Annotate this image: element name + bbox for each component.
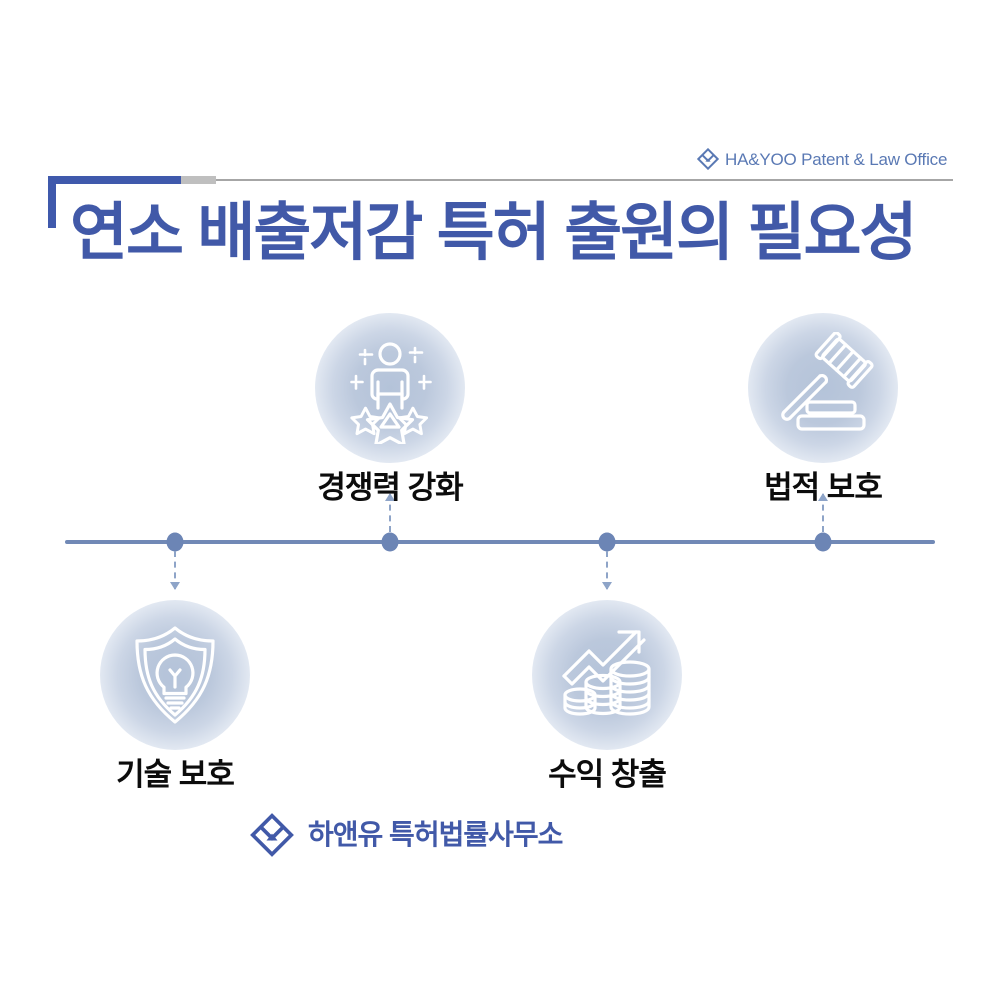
hayoo-diamond-logo-icon <box>249 812 295 858</box>
timeline-dot-technology-protection[interactable] <box>167 533 184 552</box>
person-on-stars-icon <box>334 332 446 444</box>
footer-logo: 하앤유 특허법률사무소 <box>249 812 562 858</box>
brand-header: HA&YOO Patent & Law Office <box>697 148 947 170</box>
gavel-icon <box>767 332 879 444</box>
shield-lightbulb-icon <box>119 619 231 731</box>
slide-canvas: HA&YOO Patent & Law Office 연소 배출저감 특허 출원… <box>0 0 1000 1000</box>
node-technology-protection[interactable]: 기술 보호 <box>45 600 305 792</box>
rule-segment-blue <box>48 176 181 184</box>
arrow-head-down-icon <box>602 582 612 590</box>
brand-name-text: HA&YOO Patent & Law Office <box>725 151 947 168</box>
node-revenue-generation[interactable]: 수익 창출 <box>477 600 737 792</box>
connector-arrow-down-revenue-generation <box>606 551 608 589</box>
icon-blob-revenue-generation <box>532 600 682 750</box>
node-label-technology-protection: 기술 보호 <box>45 758 305 792</box>
timeline-dot-legal-protection[interactable] <box>815 533 832 552</box>
timeline-dot-revenue-generation[interactable] <box>599 533 616 552</box>
header-rule <box>48 176 953 184</box>
rule-segment-thin <box>216 179 953 181</box>
timeline-dot-competitiveness[interactable] <box>382 533 399 552</box>
icon-blob-competitiveness <box>315 313 465 463</box>
footer-logo-text: 하앤유 특허법률사무소 <box>308 821 562 849</box>
node-label-revenue-generation: 수익 창출 <box>477 758 737 792</box>
hayoo-diamond-logo-icon <box>697 148 719 170</box>
arrow-head-down-icon <box>170 582 180 590</box>
node-label-legal-protection: 법적 보호 <box>693 471 953 505</box>
timeline-axis <box>65 540 935 544</box>
page-title: 연소 배출저감 특허 출원의 필요성 <box>70 196 950 270</box>
connector-arrow-down-technology-protection <box>174 551 176 589</box>
rule-segment-gray <box>181 176 216 184</box>
node-competitiveness[interactable]: 경쟁력 강화 <box>260 313 520 505</box>
rule-corner-vertical <box>48 176 56 228</box>
node-label-competitiveness: 경쟁력 강화 <box>260 471 520 505</box>
node-legal-protection[interactable]: 법적 보호 <box>693 313 953 505</box>
icon-blob-technology-protection <box>100 600 250 750</box>
icon-blob-legal-protection <box>748 313 898 463</box>
growth-arrow-coins-icon <box>551 619 663 731</box>
